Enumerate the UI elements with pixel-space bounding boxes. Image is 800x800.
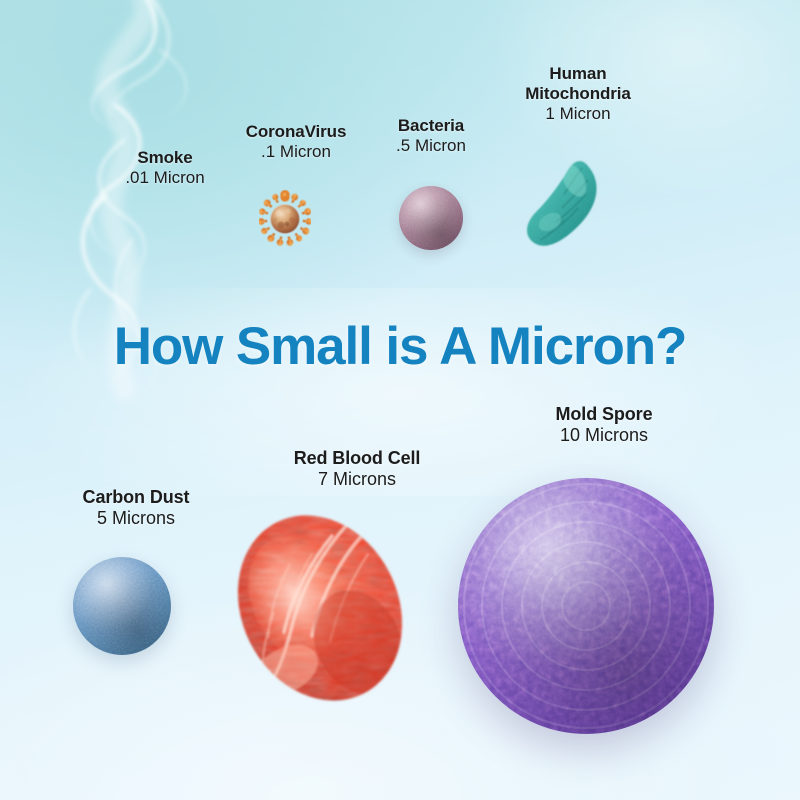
label-mitochondria: Human Mitochondria 1 Micron [525, 64, 631, 124]
mold-spore-sphere [458, 478, 714, 734]
label-mold-spore-size: 10 Microns [556, 425, 653, 446]
label-coronavirus-size: .1 Micron [246, 142, 347, 162]
label-mold-spore-name: Mold Spore [556, 404, 653, 425]
label-carbon-dust-size: 5 Microns [83, 508, 190, 529]
red-blood-cell-icon [228, 502, 413, 714]
carbon-dust-sphere [73, 557, 171, 655]
page-title: How Small is A Micron? [0, 316, 800, 377]
bacteria-texture [399, 186, 463, 250]
mitochondria-rod-icon [512, 150, 608, 268]
label-coronavirus-name: CoronaVirus [246, 122, 347, 142]
bacteria-sphere-icon [399, 186, 463, 250]
mitochondria-rod [512, 150, 608, 273]
infographic-canvas: Smoke .01 Micron CoronaVirus .1 Micron B… [0, 0, 800, 800]
label-mitochondria-name-line2: Mitochondria [525, 84, 631, 104]
label-red-blood-cell: Red Blood Cell 7 Microns [294, 448, 421, 490]
label-smoke: Smoke .01 Micron [125, 148, 204, 188]
red-blood-cell-disc [228, 502, 413, 719]
label-smoke-size: .01 Micron [125, 168, 204, 188]
mold-spore-sphere-icon [458, 478, 714, 734]
mold-spore-texture [458, 478, 714, 734]
label-carbon-dust-name: Carbon Dust [83, 487, 190, 508]
label-smoke-name: Smoke [125, 148, 204, 168]
carbon-dust-texture [73, 557, 171, 655]
label-bacteria: Bacteria .5 Micron [396, 116, 466, 156]
mold-spore-bumps [458, 478, 714, 734]
carbon-dust-sphere-icon [73, 557, 171, 655]
label-red-blood-cell-name: Red Blood Cell [294, 448, 421, 469]
label-mitochondria-name-line1: Human [525, 64, 631, 84]
label-carbon-dust: Carbon Dust 5 Microns [83, 487, 190, 529]
label-bacteria-name: Bacteria [396, 116, 466, 136]
coronavirus-particle-icon [259, 190, 311, 248]
label-mold-spore: Mold Spore 10 Microns [556, 404, 653, 446]
label-bacteria-size: .5 Micron [396, 136, 466, 156]
label-coronavirus: CoronaVirus .1 Micron [246, 122, 347, 162]
bacteria-sphere [399, 186, 463, 250]
label-red-blood-cell-size: 7 Microns [294, 469, 421, 490]
label-mitochondria-size: 1 Micron [525, 104, 631, 124]
coronavirus-particle [259, 190, 311, 253]
